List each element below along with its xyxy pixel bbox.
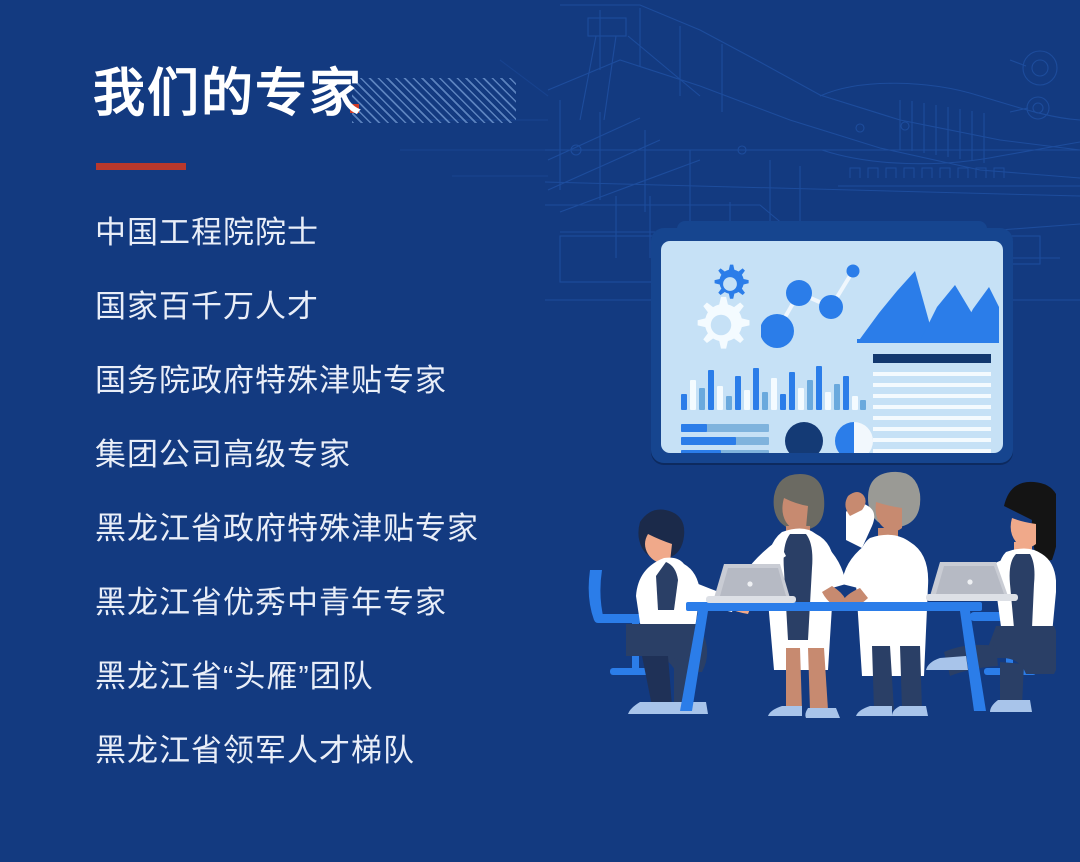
text-header-bar xyxy=(873,354,991,363)
node-small xyxy=(819,295,843,319)
list-item: 集团公司高级专家 xyxy=(95,418,615,492)
half-filled-circle xyxy=(835,422,873,453)
text-lines-block xyxy=(873,354,991,453)
standing-senior-man xyxy=(842,472,928,716)
waveform-bars xyxy=(681,364,866,410)
list-item: 国家百千万人才 xyxy=(95,270,615,344)
list-item: 黑龙江省“头雁”团队 xyxy=(95,640,615,714)
white-gear-icon xyxy=(689,293,753,357)
experts-meeting-scene xyxy=(588,462,1056,730)
dark-circle xyxy=(785,422,823,453)
credentials-list: 中国工程院院士 国家百千万人才 国务院政府特殊津贴专家 集团公司高级专家 黑龙江… xyxy=(95,196,615,788)
list-item: 黑龙江省优秀中青年专家 xyxy=(95,566,615,640)
node-large xyxy=(761,314,794,348)
mountain-area-chart xyxy=(857,263,999,343)
node-medium xyxy=(786,280,812,306)
panel-screen xyxy=(661,241,1003,453)
heading-group: 我们的专家 xyxy=(93,62,553,182)
list-item: 中国工程院院士 xyxy=(95,196,615,270)
list-item: 国务院政府特殊津贴专家 xyxy=(95,344,615,418)
list-item: 黑龙江省政府特殊津贴专家 xyxy=(95,492,615,566)
progress-bars xyxy=(681,424,769,453)
page-title: 我们的专家 xyxy=(93,62,363,126)
list-item: 黑龙江省领军人才梯队 xyxy=(95,714,615,788)
analytics-dashboard-panel xyxy=(651,228,1013,463)
red-underline-bar xyxy=(96,163,186,170)
node-network-diagram xyxy=(761,257,865,349)
diagonal-stripe-decor xyxy=(352,78,516,123)
poster-canvas: 我们的专家 中国工程院院士 国家百千万人才 国务院政府特殊津贴专家 集团公司高级… xyxy=(0,0,1080,862)
blue-table xyxy=(680,602,986,711)
